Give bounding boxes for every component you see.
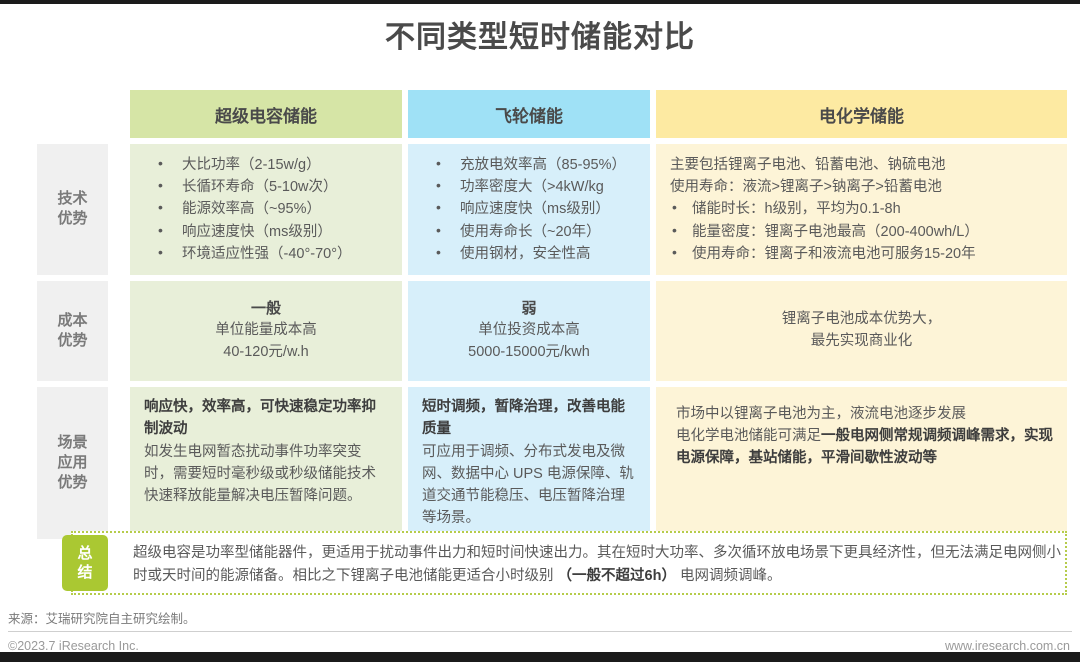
source-note: 来源：艾瑞研究院自主研究绘制。 — [8, 608, 196, 627]
page-title: 不同类型短时储能对比 — [0, 12, 1080, 56]
cell-scenario-flywheel: 短时调频，暂降治理，改善电能质量 可应用于调频、分布式发电及微网、数据中心 UP… — [408, 387, 650, 540]
cell-scenario-electrochemical: 市场中以锂离子电池为主，液流电池逐步发展 电化学电池储能可满足一般电网侧常规调频… — [656, 387, 1067, 540]
cell-cost-supercapacitor: 一般 单位能量成本高 40-120元/w.h — [130, 281, 402, 381]
scenario-body-normal: 电化学电池储能可满足 — [676, 428, 821, 444]
label-gap — [108, 90, 130, 138]
cost-rating: 弱 — [521, 298, 536, 321]
text-line: 最先实现商业化 — [811, 331, 913, 353]
cell-cost-flywheel: 弱 单位投资成本高 5000-15000元/kwh — [408, 281, 650, 381]
label-gap — [108, 387, 130, 540]
comparison-table: 超级电容储能 飞轮储能 电化学储能 技术 优势 大比功率（2-15w/g） 长循… — [37, 90, 1067, 539]
list-item: 能源效率高（~95%） — [144, 198, 388, 220]
bullet-list: 储能时长：h级别，平均为0.1-8h 能量密度：锂离子电池最高（200-400w… — [670, 198, 1053, 265]
label-gap — [108, 281, 130, 381]
cost-row-cells: 一般 单位能量成本高 40-120元/w.h 弱 单位投资成本高 5000-15… — [130, 281, 1067, 381]
slide-page: 不同类型短时储能对比 超级电容储能 飞轮储能 电化学储能 技术 优势 大比功率（… — [0, 0, 1080, 662]
table-header-row: 超级电容储能 飞轮储能 电化学储能 — [37, 90, 1067, 138]
summary-text: 超级电容是功率型储能器件，更适用于扰动事件出力和短时间快速出力。其在短时大功率、… — [133, 542, 1063, 589]
cell-tech-flywheel: 充放电效率高（85-95%） 功率密度大（>4kW/kg 响应速度快（ms级别）… — [408, 144, 650, 275]
text-line: 40-120元/w.h — [223, 342, 308, 364]
list-item: 长循环寿命（5-10w次） — [144, 176, 388, 198]
list-item: 响应速度快（ms级别） — [144, 221, 388, 243]
top-black-bar — [0, 0, 1080, 4]
table-row: 成本 优势 一般 单位能量成本高 40-120元/w.h 弱 单位投资成本高 5… — [37, 281, 1067, 381]
row-label-header — [37, 90, 108, 138]
list-item: 使用钢材，安全性高 — [422, 243, 636, 265]
text-line: 5000-15000元/kwh — [468, 342, 590, 364]
scenario-body: 可应用于调频、分布式发电及微网、数据中心 UPS 电源保障、轨道交通节能稳压、电… — [422, 442, 636, 529]
scenario-body: 如发生电网暂态扰动事件功率突变时，需要短时毫秒级或秒级储能技术快速释放能量解决电… — [144, 442, 388, 507]
row-label-cost-advantage: 成本 优势 — [37, 281, 108, 381]
scene-row-cells: 响应快，效率高，可快速稳定功率抑制波动 如发生电网暂态扰动事件功率突变时，需要短… — [130, 387, 1067, 540]
table-row: 场景 应用 优势 响应快，效率高，可快速稳定功率抑制波动 如发生电网暂态扰动事件… — [37, 387, 1067, 540]
text-line: 锂离子电池成本优势大， — [782, 309, 942, 331]
summary-text-part2: 电网调频调峰。 — [676, 568, 782, 584]
list-item: 充放电效率高（85-95%） — [422, 154, 636, 176]
footer-divider — [8, 631, 1072, 632]
list-item: 功率密度大（>4kW/kg — [422, 176, 636, 198]
list-item: 响应速度快（ms级别） — [422, 198, 636, 220]
list-item: 大比功率（2-15w/g） — [144, 154, 388, 176]
bullet-list: 大比功率（2-15w/g） 长循环寿命（5-10w次） 能源效率高（~95%） … — [144, 154, 388, 265]
summary-section: 总 结 超级电容是功率型储能器件，更适用于扰动事件出力和短时间快速出力。其在短时… — [37, 531, 1067, 595]
cell-tech-supercapacitor: 大比功率（2-15w/g） 长循环寿命（5-10w次） 能源效率高（~95%） … — [130, 144, 402, 275]
text-line: 单位投资成本高 — [478, 320, 580, 342]
list-item: 能量密度：锂离子电池最高（200-400wh/L） — [670, 221, 1053, 243]
cell-tech-electrochemical: 主要包括锂离子电池、铅蓄电池、钠硫电池 使用寿命：液流>锂离子>钠离子>铅蓄电池… — [656, 144, 1067, 275]
text-line: 主要包括锂离子电池、铅蓄电池、钠硫电池 — [670, 154, 1053, 176]
tech-row-cells: 大比功率（2-15w/g） 长循环寿命（5-10w次） 能源效率高（~95%） … — [130, 144, 1067, 275]
row-label-tech-advantage: 技术 优势 — [37, 144, 108, 275]
scenario-title: 响应快，效率高，可快速稳定功率抑制波动 — [144, 397, 388, 441]
text-line: 单位能量成本高 — [215, 320, 317, 342]
cell-cost-electrochemical: 锂离子电池成本优势大， 最先实现商业化 — [656, 281, 1067, 381]
column-header-supercapacitor: 超级电容储能 — [130, 90, 402, 138]
header-cells: 超级电容储能 飞轮储能 电化学储能 — [130, 90, 1067, 138]
summary-badge: 总 结 — [62, 535, 108, 591]
list-item: 储能时长：h级别，平均为0.1-8h — [670, 198, 1053, 220]
cost-rating: 一般 — [251, 298, 281, 321]
scenario-body-line1: 市场中以锂离子电池为主，液流电池逐步发展 — [676, 403, 1053, 425]
copyright-text: ©2023.7 iResearch Inc. — [8, 639, 139, 653]
text-line: 使用寿命：液流>锂离子>钠离子>铅蓄电池 — [670, 176, 1053, 198]
list-item: 使用寿命：锂离子和液流电池可服务15-20年 — [670, 243, 1053, 265]
list-item: 环境适应性强（-40°-70°） — [144, 243, 388, 265]
bottom-black-bar — [0, 652, 1080, 662]
scenario-title: 短时调频，暂降治理，改善电能质量 — [422, 397, 636, 441]
column-header-electrochemical: 电化学储能 — [656, 90, 1067, 138]
summary-text-bold: （一般不超过6h） — [558, 568, 676, 584]
label-gap — [108, 144, 130, 275]
website-url: www.iresearch.com.cn — [945, 639, 1070, 653]
row-label-scenario-advantage: 场景 应用 优势 — [37, 387, 108, 540]
list-item: 使用寿命长（~20年） — [422, 221, 636, 243]
table-row: 技术 优势 大比功率（2-15w/g） 长循环寿命（5-10w次） 能源效率高（… — [37, 144, 1067, 275]
cell-scenario-supercapacitor: 响应快，效率高，可快速稳定功率抑制波动 如发生电网暂态扰动事件功率突变时，需要短… — [130, 387, 402, 540]
scenario-body-line2: 电化学电池储能可满足一般电网侧常规调频调峰需求，实现电源保障，基站储能，平滑间歇… — [676, 425, 1053, 469]
column-header-flywheel: 飞轮储能 — [408, 90, 650, 138]
bullet-list: 充放电效率高（85-95%） 功率密度大（>4kW/kg 响应速度快（ms级别）… — [422, 154, 636, 265]
